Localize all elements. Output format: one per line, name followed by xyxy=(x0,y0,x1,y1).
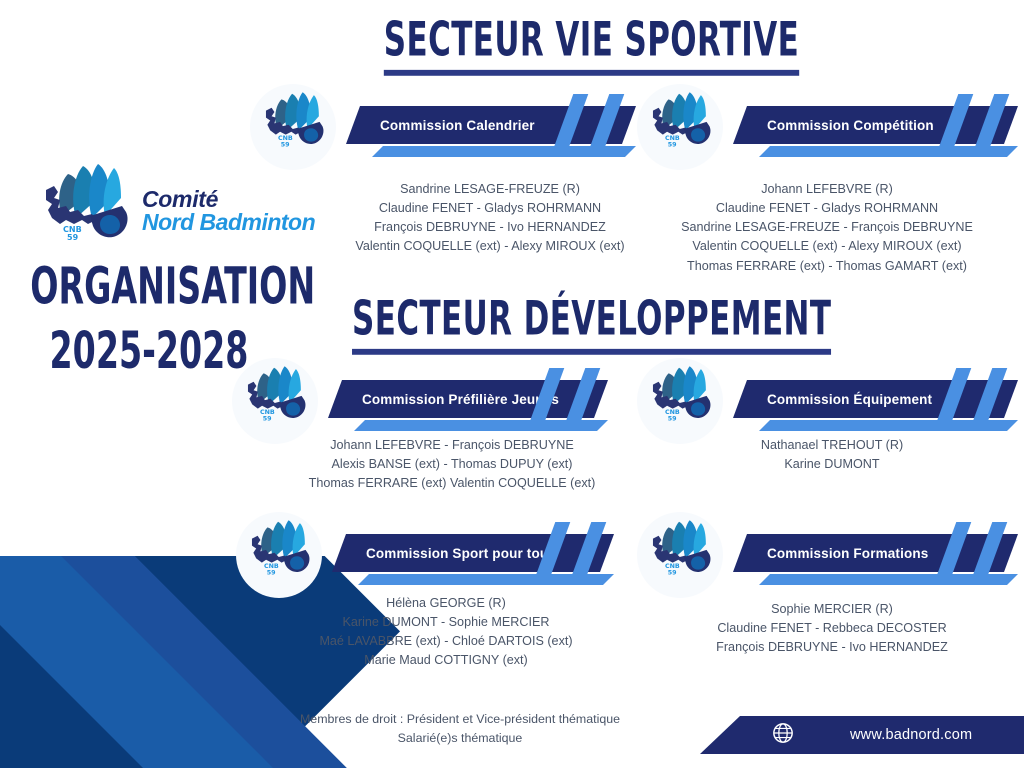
member-line: Thomas FERRARE (ext) Valentin COQUELLE (… xyxy=(222,474,682,493)
commission-banner: Commission Sport pour tous xyxy=(332,526,614,588)
member-line: Nathanael TREHOUT (R) xyxy=(637,436,1024,455)
commission-badge-icon: CNB 59 xyxy=(637,84,723,170)
commission-banner: Commission Équipement xyxy=(733,372,1018,434)
svg-text:59: 59 xyxy=(281,142,290,149)
commission-badge-icon: CNB 59 xyxy=(637,358,723,444)
member-line: François DEBRUYNE - Ivo HERNANDEZ xyxy=(617,638,1024,657)
globe-icon xyxy=(772,722,794,749)
website-banner[interactable]: www.badnord.com xyxy=(700,716,1024,754)
commission-banner: Commission Calendrier xyxy=(346,98,636,160)
svg-text:59: 59 xyxy=(263,416,272,423)
member-line: Thomas FERRARE (ext) - Thomas GAMART (ex… xyxy=(597,257,1024,276)
organisation-word: ORGANISATION xyxy=(30,254,268,319)
footer-note: Membres de droit : Président et Vice-pré… xyxy=(240,710,680,747)
member-line: Alexis BANSE (ext) - Thomas DUPUY (ext) xyxy=(222,455,682,474)
poster-canvas: CNB 59 Comité Nord Badminton ORGANISATIO… xyxy=(0,0,1024,768)
commission-banner: Commission Préfilière Jeunes xyxy=(328,372,608,434)
bg-stripe-bottomleft-light-5 xyxy=(0,571,209,768)
commission-badge-icon: CNB 59 xyxy=(236,512,322,598)
sector-title-developpement: SECTEUR DÉVELOPPEMENT xyxy=(312,292,872,355)
sector-title-text: SECTEUR DÉVELOPPEMENT xyxy=(352,292,831,355)
svg-text:59: 59 xyxy=(67,233,79,242)
accent-underbar xyxy=(372,146,636,157)
commission-name: Commission Équipement xyxy=(733,392,932,407)
commission-members: Nathanael TREHOUT (R) Karine DUMONT xyxy=(637,436,1024,474)
member-line: Claudine FENET - Gladys ROHRMANN xyxy=(597,199,1024,218)
commission-members: Hélèna GEORGE (R) Karine DUMONT - Sophie… xyxy=(226,594,666,671)
member-line: Karine DUMONT - Sophie MERCIER xyxy=(226,613,666,632)
commission-members: Sophie MERCIER (R) Claudine FENET - Rebb… xyxy=(617,600,1024,657)
svg-text:59: 59 xyxy=(668,416,677,423)
svg-text:59: 59 xyxy=(668,142,677,149)
accent-underbar xyxy=(354,420,608,431)
member-line: Hélèna GEORGE (R) xyxy=(226,594,666,613)
commission-banner: Commission Formations xyxy=(733,526,1018,588)
shuttlecock-logo-icon: CNB 59 xyxy=(36,160,136,261)
sector-title-vie-sportive: SECTEUR VIE SPORTIVE xyxy=(312,13,872,76)
member-line: Marie Maud COTTIGNY (ext) xyxy=(226,651,666,670)
brand-block: CNB 59 Comité Nord Badminton xyxy=(36,160,316,261)
commission-band: Commission Compétition xyxy=(733,106,1018,144)
website-url: www.badnord.com xyxy=(850,727,972,743)
member-line: Sophie MERCIER (R) xyxy=(617,600,1024,619)
member-line: Karine DUMONT xyxy=(637,455,1024,474)
svg-text:59: 59 xyxy=(668,570,677,577)
commission-members: Johann LEFEBVRE (R) Claudine FENET - Gla… xyxy=(597,180,1024,276)
commission-name: Commission Sport pour tous xyxy=(332,546,556,561)
svg-text:59: 59 xyxy=(267,570,276,577)
commission-band: Commission Préfilière Jeunes xyxy=(328,380,608,418)
commission-banner: Commission Compétition xyxy=(733,98,1018,160)
commission-name: Commission Formations xyxy=(733,546,928,561)
accent-underbar xyxy=(759,146,1018,157)
footer-note-line-1: Membres de droit : Président et Vice-pré… xyxy=(240,710,680,729)
commission-badge-icon: CNB 59 xyxy=(232,358,318,444)
footer-note-line-2: Salarié(e)s thématique xyxy=(240,729,680,748)
bg-stripe-bottomleft-light-6 xyxy=(0,633,123,768)
commission-band: Commission Sport pour tous xyxy=(332,534,614,572)
commission-name: Commission Préfilière Jeunes xyxy=(328,392,559,407)
commission-badge-icon: CNB 59 xyxy=(637,512,723,598)
accent-underbar xyxy=(358,574,614,585)
accent-underbar xyxy=(759,574,1018,585)
member-line: Maé LAVABBRE (ext) - Chloé DARTOIS (ext) xyxy=(226,632,666,651)
commission-name: Commission Compétition xyxy=(733,118,934,133)
member-line: Johann LEFEBVRE (R) xyxy=(597,180,1024,199)
sector-title-text: SECTEUR VIE SPORTIVE xyxy=(384,13,799,76)
member-line: Claudine FENET - Rebbeca DECOSTER xyxy=(617,619,1024,638)
accent-underbar xyxy=(759,420,1018,431)
commission-badge-icon: CNB 59 xyxy=(250,84,336,170)
commission-name: Commission Calendrier xyxy=(346,118,535,133)
member-line: Johann LEFEBVRE - François DEBRUYNE xyxy=(222,436,682,455)
member-line: Sandrine LESAGE-FREUZE - François DEBRUY… xyxy=(597,218,1024,237)
commission-members: Johann LEFEBVRE - François DEBRUYNE Alex… xyxy=(222,436,682,493)
member-line: Valentin COQUELLE (ext) - Alexy MIROUX (… xyxy=(597,237,1024,256)
